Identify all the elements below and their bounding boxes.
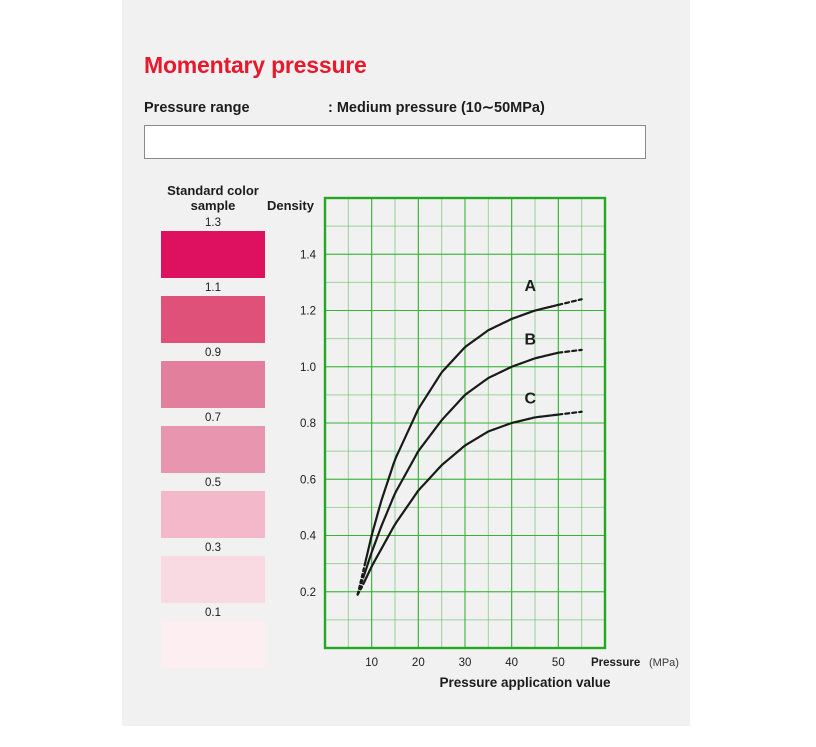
x-tick-label: 40 [505,657,518,669]
content-panel: Momentary pressure Pressure range : Medi… [122,0,690,726]
chart-plot-area: 0.20.40.60.81.01.21.41020304050Pressure(… [267,190,687,700]
swatch-header-line1: Standard color [158,183,268,198]
swatch-header-line2: sample [158,198,268,213]
x-tick-label: 10 [365,657,378,669]
swatch-group: 1.1 [158,281,268,343]
swatch-list: 1.31.10.90.70.50.30.1 [158,216,268,668]
standard-color-sample-panel: Standard color sample 1.31.10.90.70.50.3… [158,183,268,668]
pressure-range-row: Pressure range : Medium pressure (10∼50M… [144,100,648,122]
curve-label-A: A [525,278,537,295]
swatch-group: 0.1 [158,606,268,668]
page-title: Momentary pressure [144,52,367,79]
y-tick-label: 1.0 [300,362,316,374]
swatch-value-label: 0.7 [158,411,268,426]
y-tick-label: 0.2 [300,587,316,599]
swatch-chip [161,556,265,603]
x-tick-label: 20 [412,657,425,669]
x-tick-label: 50 [552,657,565,669]
swatch-value-label: 1.1 [158,281,268,296]
curve-label-C: C [525,390,537,407]
x-tick-label: 30 [459,657,472,669]
swatch-group: 0.5 [158,476,268,538]
y-tick-label: 1.4 [300,249,317,261]
swatch-value-label: 0.9 [158,346,268,361]
pressure-range-value: : Medium pressure (10∼50MPa) [328,100,545,116]
swatch-value-label: 0.5 [158,476,268,491]
swatch-panel-header: Standard color sample [158,183,268,213]
density-pressure-chart: Density 0.20.40.60.81.01.21.41020304050P… [267,190,687,700]
swatch-value-label: 1.3 [158,216,268,231]
swatch-group: 0.9 [158,346,268,408]
swatch-chip [161,491,265,538]
y-tick-label: 0.6 [300,474,316,486]
series-A [358,299,582,594]
swatch-chip [161,621,265,668]
x-axis-caption: Pressure [591,657,640,669]
swatch-group: 0.3 [158,541,268,603]
y-tick-label: 0.8 [300,418,316,430]
swatch-group: 0.7 [158,411,268,473]
x-axis-title: Pressure application value [375,675,675,690]
swatch-chip [161,231,265,278]
swatch-value-label: 0.3 [158,541,268,556]
pressure-range-label: Pressure range [144,100,250,116]
y-tick-label: 0.4 [300,531,317,543]
note-input-box[interactable] [144,125,646,159]
y-tick-label: 1.2 [300,306,316,318]
swatch-group: 1.3 [158,216,268,278]
curve-label-B: B [525,331,537,348]
swatch-chip [161,426,265,473]
swatch-chip [161,361,265,408]
x-axis-unit: (MPa) [649,657,679,669]
swatch-value-label: 0.1 [158,606,268,621]
swatch-chip [161,296,265,343]
